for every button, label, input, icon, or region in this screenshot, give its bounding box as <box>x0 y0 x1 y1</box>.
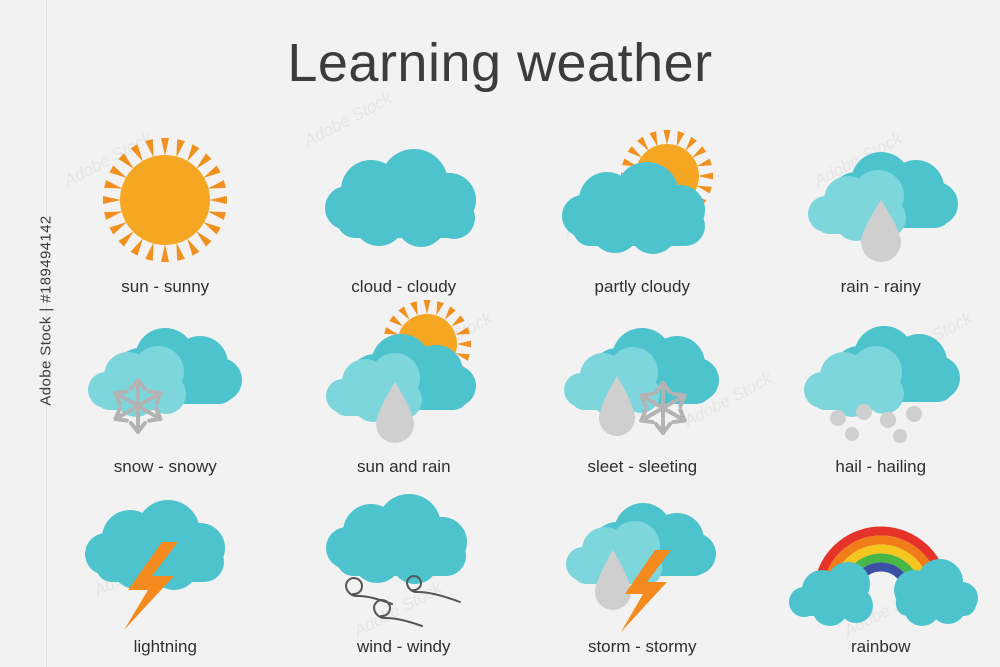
partly-cloudy-icon <box>547 138 737 268</box>
weather-grid: sun - sunny cloud - <box>46 120 1000 660</box>
weather-label: hail - hailing <box>835 454 926 480</box>
rainbow-icon <box>786 498 976 628</box>
weather-label: cloud - cloudy <box>351 274 456 300</box>
weather-label: storm - stormy <box>588 634 697 660</box>
weather-card-wind[interactable]: wind - windy <box>285 480 524 660</box>
storm-cloud-icon <box>547 498 737 628</box>
wind-cloud-icon <box>309 498 499 628</box>
snow-cloud-icon <box>70 318 260 448</box>
weather-card-partly-cloudy[interactable]: partly cloudy <box>523 120 762 300</box>
page-title: Learning weather <box>0 32 1000 94</box>
weather-card-rain[interactable]: rain - rainy <box>762 120 1000 300</box>
weather-card-rainbow[interactable]: rainbow <box>762 480 1000 660</box>
weather-card-sun-and-rain[interactable]: sun and rain <box>285 300 524 480</box>
weather-card-lightning[interactable]: lightning <box>46 480 285 660</box>
rain-cloud-icon <box>786 138 976 268</box>
weather-label: snow - snowy <box>114 454 217 480</box>
weather-card-snow[interactable]: snow - snowy <box>46 300 285 480</box>
weather-label: sun - sunny <box>121 274 209 300</box>
poster-canvas: Adobe Stock Adobe Stock Adobe Stock Adob… <box>0 0 1000 667</box>
cloud-icon <box>309 138 499 268</box>
sun-icon <box>70 138 260 268</box>
weather-card-sleet[interactable]: sleet - sleeting <box>523 300 762 480</box>
weather-card-storm[interactable]: storm - stormy <box>523 480 762 660</box>
weather-label: lightning <box>134 634 197 660</box>
weather-label: wind - windy <box>357 634 451 660</box>
weather-card-hail[interactable]: hail - hailing <box>762 300 1000 480</box>
lightning-cloud-icon <box>70 498 260 628</box>
weather-label: sleet - sleeting <box>587 454 697 480</box>
weather-label: rainbow <box>851 634 911 660</box>
sun-rain-icon <box>309 318 499 448</box>
weather-label: partly cloudy <box>595 274 690 300</box>
weather-label: sun and rain <box>357 454 451 480</box>
weather-card-sun[interactable]: sun - sunny <box>46 120 285 300</box>
sleet-cloud-icon <box>547 318 737 448</box>
weather-label: rain - rainy <box>841 274 921 300</box>
hail-cloud-icon <box>786 318 976 448</box>
weather-card-cloud[interactable]: cloud - cloudy <box>285 120 524 300</box>
